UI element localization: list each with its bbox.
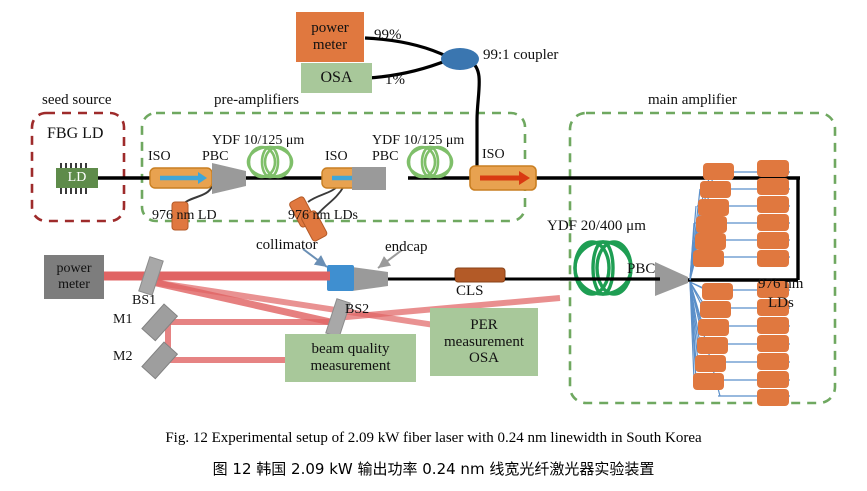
ydf-20-400-label: YDF 20/400 μm [547, 219, 646, 235]
per-label-2: measurement [444, 334, 524, 351]
bs1-label: BS1 [132, 294, 156, 309]
endcap-label: endcap [385, 240, 427, 256]
m2-label: M2 [113, 350, 132, 365]
bs2-label: BS2 [345, 303, 369, 318]
pbc-1-label: PBC [202, 150, 228, 165]
power-meter-bottom-label-1: power [57, 261, 92, 277]
osa-label: OSA [320, 69, 352, 87]
m1-label: M1 [113, 313, 132, 328]
beam-quality-label-2: measurement [311, 358, 391, 375]
per-label-3: OSA [469, 350, 499, 367]
pre-amplifiers-title: pre-amplifiers [214, 93, 299, 109]
cls-label: CLS [456, 284, 484, 300]
group-box-pre-amplifiers [142, 113, 525, 221]
per-label-1: PER [470, 317, 498, 334]
power-meter-top-box: power meter [296, 12, 364, 62]
pump-976-2-label: 976 nm LDs [288, 209, 358, 224]
ld-label-box: LD [56, 168, 98, 188]
iso-3-label: ISO [482, 148, 505, 163]
ydf-10-125-label-2: YDF 10/125 μm [372, 134, 464, 149]
figure-caption-en: Fig. 12 Experimental setup of 2.09 kW fi… [0, 430, 867, 447]
pbc-main-label: PBC [627, 262, 655, 278]
diagram-vector-layer [0, 0, 867, 491]
pump-976-main-label-1: 976 nm [758, 277, 803, 293]
power-meter-top-label-2: meter [313, 37, 347, 54]
isolator-3 [470, 166, 536, 190]
coupler-label: 99:1 coupler [483, 48, 558, 64]
osa-box: OSA [301, 63, 372, 93]
pbc-2-label: PBC [372, 150, 398, 165]
collimator-shape [327, 265, 354, 291]
seed-source-title: seed source [42, 93, 112, 109]
power-meter-top-label-1: power [311, 20, 349, 37]
main-amplifier-title: main amplifier [648, 93, 737, 109]
fbg-ld-label: FBG LD [47, 126, 103, 143]
isolator-1 [150, 168, 212, 188]
power-meter-bottom-label-2: meter [58, 277, 90, 293]
iso-1-label: ISO [148, 150, 171, 165]
power-meter-bottom-box: power meter [44, 255, 104, 299]
pbc-2-body [352, 167, 386, 190]
ydf-10-125-label-1: YDF 10/125 μm [212, 134, 304, 149]
per-measurement-box: PER measurement OSA [430, 308, 538, 376]
beam-quality-box: beam quality measurement [285, 334, 416, 382]
figure-caption-cn: 图 12 韩国 2.09 kW 输出功率 0.24 nm 线宽光纤激光器实验装置 [0, 458, 867, 479]
ydf-coil-1 [248, 147, 292, 177]
ld-label: LD [68, 170, 87, 186]
beam-quality-label-1: beam quality [312, 341, 390, 358]
tap-1-label: 1% [385, 73, 405, 89]
endcap-shape [352, 267, 388, 291]
collimator-label: collimator [256, 238, 318, 254]
mirror-2 [142, 342, 177, 379]
cls-component [455, 268, 505, 282]
tap-99-label: 99% [374, 28, 402, 44]
pump-976-1-label: 976 nm LD [152, 209, 217, 224]
pbc-1 [212, 163, 246, 194]
coupler-node [441, 48, 479, 70]
ydf-coil-2 [408, 147, 452, 177]
iso-2-label: ISO [325, 150, 348, 165]
mirror-1 [142, 304, 177, 341]
ydf-coil-main [575, 242, 631, 294]
figure-canvas: power meter OSA 99% 1% 99:1 coupler seed… [0, 0, 867, 491]
pump-976-main-label-2: LDs [768, 296, 794, 312]
